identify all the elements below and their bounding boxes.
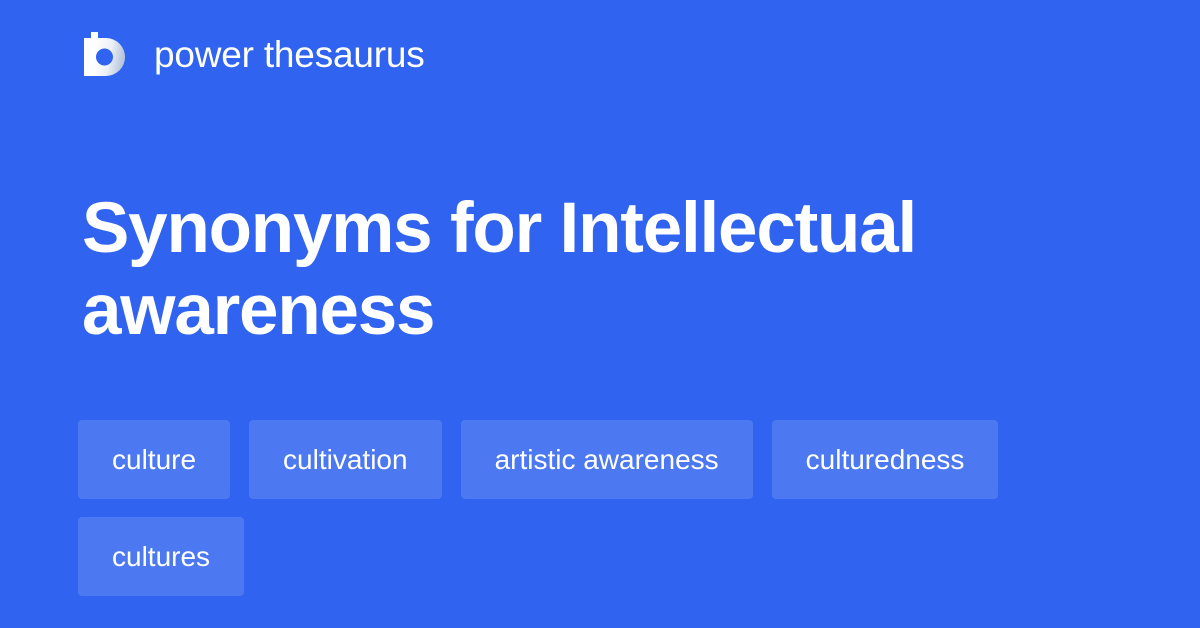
power-thesaurus-b-logo-icon — [82, 30, 128, 78]
synonym-chip[interactable]: culture — [78, 420, 230, 499]
brand-name: power thesaurus — [154, 36, 425, 73]
synonyms-share-card: power thesaurus Synonyms for Intellectua… — [0, 0, 1200, 628]
synonym-chip[interactable]: cultivation — [249, 420, 442, 499]
brand-header[interactable]: power thesaurus — [82, 30, 425, 78]
synonym-chip-list: culture cultivation artistic awareness c… — [78, 420, 1078, 596]
synonym-chip[interactable]: culturedness — [772, 420, 999, 499]
synonym-chip[interactable]: artistic awareness — [461, 420, 753, 499]
page-title: Synonyms for Intellectual awareness — [82, 188, 1082, 353]
synonym-chip[interactable]: cultures — [78, 517, 244, 596]
